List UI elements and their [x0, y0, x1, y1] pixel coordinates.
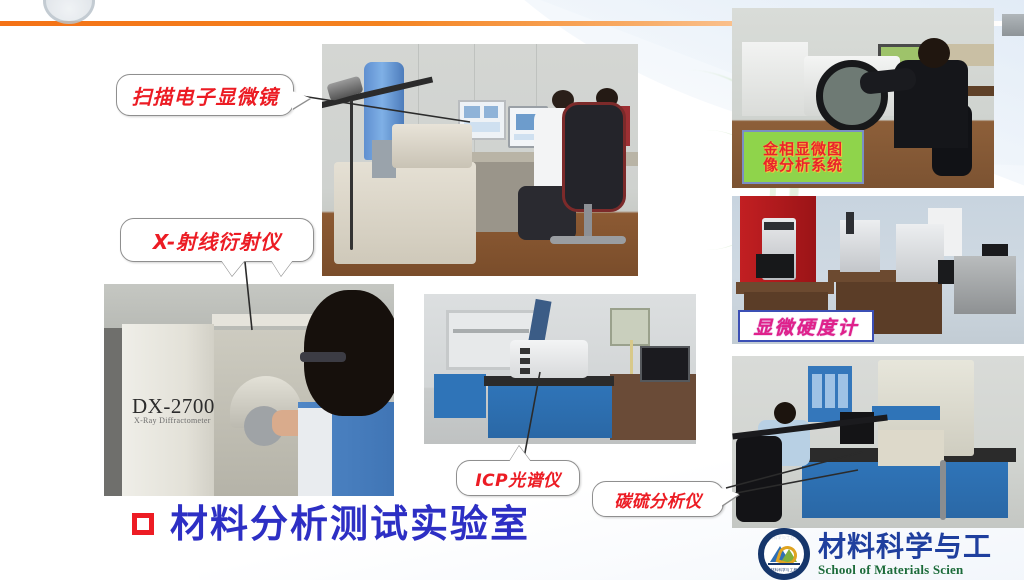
callout-carbon-sulfur-tail — [721, 488, 739, 506]
footer-school-names: 材料科学与工 School of Materials Scien — [818, 533, 992, 576]
emblem-base-line — [768, 563, 800, 565]
callout-sem-tail — [292, 91, 310, 109]
callout-xrd-tail — [221, 260, 245, 276]
callout-microhardness-tester[interactable]: 显微硬度计 — [738, 310, 874, 342]
school-emblem-icon: 材料科学与工程学院 材料科学与工程 — [758, 528, 810, 580]
connector-sem — [295, 95, 470, 122]
callout-microhardness-label: 显微硬度计 — [753, 313, 858, 340]
callout-carbon-sulfur-label: 碳硫分析仪 — [614, 487, 702, 512]
footer-school-name-cn: 材料科学与工 — [818, 533, 992, 561]
footer-school-logo: 材料科学与工程学院 材料科学与工程 材料科学与工 School of Mater… — [758, 528, 992, 580]
callout-icp-label: ICP光谱仪 — [475, 466, 560, 491]
callout-carbon-sulfur-analyzer[interactable]: 碳硫分析仪 — [592, 481, 724, 517]
page-title: 材料分析测试实验室 — [170, 505, 530, 543]
emblem-sub-text: 材料科学与工程 — [764, 568, 804, 573]
slide-title-row: 材料分析测试实验室 — [132, 505, 530, 543]
callout-sem-label: 扫描电子显微镜 — [132, 81, 279, 110]
connector-xrd — [245, 262, 252, 330]
footer-school-name-en: School of Materials Scien — [818, 563, 992, 576]
callout-icp-spectrometer[interactable]: ICP光谱仪 — [456, 460, 580, 496]
callout-x-ray-diffractometer[interactable]: X-射线衍射仪 — [120, 218, 314, 262]
callout-scanning-electron-microscope[interactable]: 扫描电子显微镜 — [116, 74, 294, 116]
callout-xrd-tail-2 — [271, 260, 293, 276]
callout-xrd-label: X-射线衍射仪 — [153, 226, 281, 255]
callout-icp-tail — [509, 446, 531, 462]
slide-canvas: DX-2700 X-Ray Diffractometer — [0, 0, 1024, 580]
square-bullet-icon — [132, 513, 154, 535]
emblem-arc-text: 材料科学与工程学院 — [764, 535, 804, 541]
